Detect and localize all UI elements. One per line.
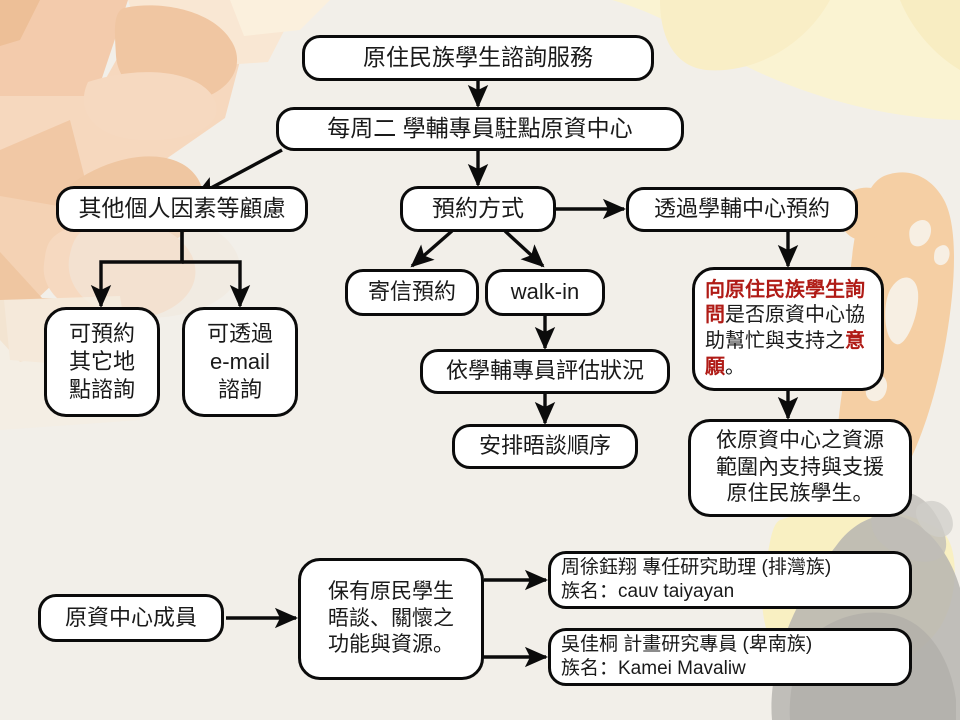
- node-other-factors[interactable]: 其他個人因素等顧慮: [56, 186, 308, 232]
- node-support-scope[interactable]: 依原資中心之資源 範圍內支持與支援 原住民族學生。: [688, 419, 912, 517]
- node-member-1[interactable]: 周徐鈺翔 專任研究助理 (排灣族) 族名：cauv taiyayan: [548, 551, 912, 609]
- node-mail-booking-label: 寄信預約: [368, 278, 456, 306]
- node-mail-booking[interactable]: 寄信預約: [345, 269, 479, 316]
- node-assessment-label: 依學輔專員評估狀況: [446, 357, 644, 385]
- node-member-2[interactable]: 吳佳桐 計畫研究專員 (卑南族) 族名：Kamei Mavaliw: [548, 628, 912, 686]
- node-assessment[interactable]: 依學輔專員評估狀況: [420, 349, 670, 394]
- node-via-email[interactable]: 可透過 e-mail 諮詢: [182, 307, 298, 417]
- node-walk-in[interactable]: walk-in: [485, 269, 605, 316]
- node-center-members-label: 原資中心成員: [65, 604, 197, 632]
- node-root[interactable]: 原住民族學生諮詢服務: [302, 35, 654, 81]
- node-via-counseling-center[interactable]: 透過學輔中心預約: [626, 187, 858, 232]
- node-booking-method[interactable]: 預約方式: [400, 186, 556, 232]
- node-via-counseling-center-label: 透過學輔中心預約: [654, 195, 830, 223]
- node-arrange-order-label: 安排晤談順序: [479, 432, 611, 460]
- node-other-place[interactable]: 可預約 其它地 點諮詢: [44, 307, 160, 417]
- node-support-scope-label: 依原資中心之資源 範圍內支持與支援 原住民族學生。: [716, 428, 884, 509]
- node-booking-method-label: 預約方式: [432, 194, 524, 223]
- node-arrange-order[interactable]: 安排晤談順序: [452, 424, 638, 469]
- node-weekly[interactable]: 每周二 學輔專員駐點原資中心: [276, 107, 684, 151]
- node-root-label: 原住民族學生諮詢服務: [363, 43, 593, 72]
- node-member-1-label: 周徐鈺翔 專任研究助理 (排灣族) 族名：cauv taiyayan: [561, 556, 831, 605]
- node-member-2-label: 吳佳桐 計畫研究專員 (卑南族) 族名：Kamei Mavaliw: [561, 633, 812, 682]
- node-weekly-label: 每周二 學輔專員駐點原資中心: [327, 114, 632, 143]
- node-member-function-label: 保有原民學生 晤談、關懷之 功能與資源。: [328, 579, 454, 660]
- flowchart-canvas: 原住民族學生諮詢服務 每周二 學輔專員駐點原資中心 其他個人因素等顧慮 預約方式…: [0, 0, 960, 720]
- node-via-email-label: 可透過 e-mail 諮詢: [207, 320, 273, 404]
- node-ask-willingness[interactable]: 向原住民族學生詢問是否原資中心協助幫忙與支持之意願。: [692, 267, 884, 391]
- node-ask-willingness-rich: 向原住民族學生詢問是否原資中心協助幫忙與支持之意願。: [705, 278, 881, 380]
- node-other-factors-label: 其他個人因素等顧慮: [79, 194, 286, 223]
- node-member-function[interactable]: 保有原民學生 晤談、關懷之 功能與資源。: [298, 558, 484, 680]
- node-center-members[interactable]: 原資中心成員: [38, 594, 224, 642]
- node-walk-in-label: walk-in: [511, 278, 579, 306]
- node-other-place-label: 可預約 其它地 點諮詢: [69, 320, 135, 404]
